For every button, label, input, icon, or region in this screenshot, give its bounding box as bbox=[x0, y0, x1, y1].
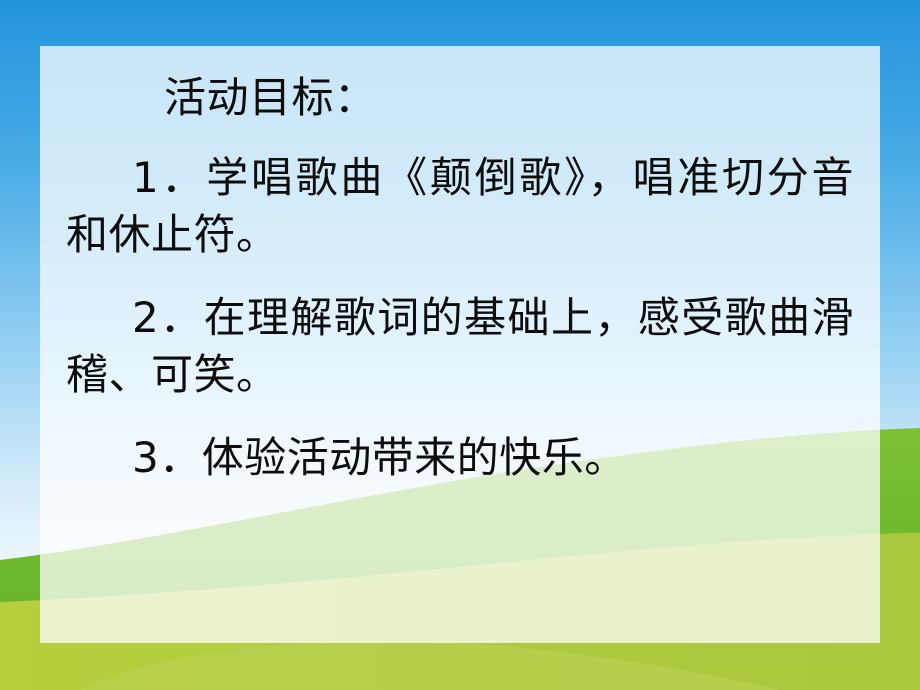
objective-item-3: 3．体验活动带来的快乐。 bbox=[66, 429, 854, 486]
objective-item-2: 2．在理解歌词的基础上，感受歌曲滑稽、可笑。 bbox=[66, 289, 854, 403]
content-panel: 活动目标： 1．学唱歌曲《颠倒歌》，唱准切分音和休止符。 2．在理解歌词的基础上… bbox=[40, 46, 880, 643]
page-title: 活动目标： bbox=[164, 74, 854, 121]
objective-item-1: 1．学唱歌曲《颠倒歌》，唱准切分音和休止符。 bbox=[66, 149, 854, 263]
slide: 活动目标： 1．学唱歌曲《颠倒歌》，唱准切分音和休止符。 2．在理解歌词的基础上… bbox=[0, 0, 920, 690]
content-panel-inner: 活动目标： 1．学唱歌曲《颠倒歌》，唱准切分音和休止符。 2．在理解歌词的基础上… bbox=[40, 46, 880, 643]
